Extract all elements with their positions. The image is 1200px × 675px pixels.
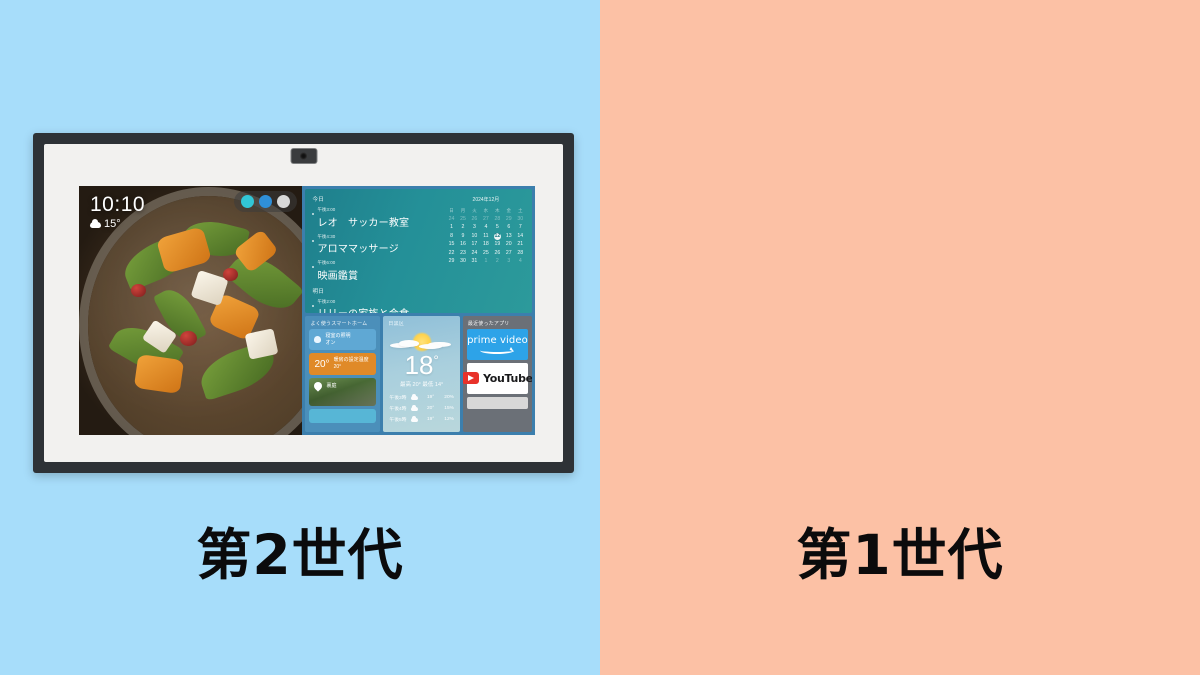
weather-hourly-list: 午後3時 19° 20% 午後4時 20° xyxy=(383,388,459,427)
panel-gen2: 10:10 15° xyxy=(0,0,600,675)
calendar-dow: 木 xyxy=(492,207,503,215)
clock-temp-value: 15° xyxy=(104,219,121,230)
status-icon-group[interactable] xyxy=(241,195,290,208)
widget-panel: 今日 午後3:00 レオ サッカー教室 午後4:30 アロママッサージ xyxy=(302,186,535,435)
calendar-day[interactable]: 29 xyxy=(446,258,457,266)
calendar-day[interactable]: 10 xyxy=(469,233,480,241)
weather-hour-precip: 20% xyxy=(438,395,454,400)
agenda-event-time: 午後4:30 xyxy=(317,234,432,240)
weather-high-low: 最高 20° 最低 14° xyxy=(383,380,459,388)
youtube-app[interactable]: YouTube xyxy=(467,363,528,394)
youtube-play-icon xyxy=(463,372,479,384)
calendar-day[interactable]: 27 xyxy=(480,216,491,224)
pin-icon xyxy=(313,380,324,391)
calendar-day[interactable]: 15 xyxy=(446,241,457,249)
agenda-tomorrow-label: 明日 xyxy=(312,287,432,295)
calendar-day[interactable]: 8 xyxy=(446,233,457,241)
agenda-event-title: アロママッサージ xyxy=(317,240,432,255)
calendar-widget[interactable]: 2024年12月 日月火水木金土242526272829301234567891… xyxy=(440,189,532,313)
calendar-dow: 火 xyxy=(469,207,480,215)
calendar-dow: 水 xyxy=(480,207,491,215)
calendar-day[interactable]: 24 xyxy=(446,216,457,224)
calendar-day[interactable]: 16 xyxy=(457,241,468,249)
weather-hour-time: 午後4時 xyxy=(389,405,406,412)
calendar-day[interactable]: 27 xyxy=(503,250,514,258)
comparison-stage: 10:10 15° xyxy=(0,0,1200,675)
smart-tile-label: 裏庭 xyxy=(326,383,336,390)
calendar-day[interactable]: 3 xyxy=(469,224,480,232)
calendar-day[interactable]: 30 xyxy=(457,258,468,266)
calendar-dow: 金 xyxy=(503,207,514,215)
weather-hour-time: 午後5時 xyxy=(389,416,406,423)
cloud-icon xyxy=(411,418,418,422)
weather-widget[interactable]: 日黒区 18° xyxy=(383,316,459,432)
agenda-event-time: 午後6:00 xyxy=(317,260,432,266)
calendar-day[interactable]: 19 xyxy=(492,241,503,249)
weather-hour-temp: 20° xyxy=(422,406,435,411)
agenda-event[interactable]: 午後4:30 アロママッサージ xyxy=(312,234,432,256)
calendar-day[interactable]: 14 xyxy=(515,233,526,241)
calendar-day[interactable]: 9 xyxy=(457,233,468,241)
calendar-day[interactable]: 4 xyxy=(515,258,526,266)
amazon-smile-icon xyxy=(480,347,514,354)
caption-gen1: 第1世代 xyxy=(600,528,1200,583)
blank-app[interactable] xyxy=(467,397,528,409)
calendar-day[interactable]: 24 xyxy=(469,250,480,258)
cloud-icon xyxy=(90,222,101,228)
smart-tile-extra[interactable] xyxy=(309,409,376,423)
thermostat-value: 20° xyxy=(314,359,329,370)
clock-overlay: 10:10 15° xyxy=(90,194,145,230)
calendar-dow: 日 xyxy=(446,207,457,215)
smart-tile-thermostat[interactable]: 20° 暖房の設定温度 20° xyxy=(309,353,376,375)
agenda-event-title: 映画鑑賞 xyxy=(317,267,432,282)
smart-home-title: よく使うスマートホーム xyxy=(305,316,380,329)
agenda-event-title: リリーの家族と会食 xyxy=(317,305,432,313)
device-screen: 10:10 15° xyxy=(79,186,535,435)
prime-video-app[interactable]: prime video xyxy=(467,329,528,360)
calendar-day[interactable]: 25 xyxy=(457,216,468,224)
weather-hour-temp: 19° xyxy=(422,395,435,400)
calendar-day[interactable]: 18 xyxy=(480,241,491,249)
agenda-today-label: 今日 xyxy=(312,195,432,203)
calendar-day[interactable]: 4 xyxy=(480,224,491,232)
caption-gen2: 第2世代 xyxy=(0,528,600,583)
calendar-day[interactable]: 1 xyxy=(446,224,457,232)
calendar-dow: 月 xyxy=(457,207,468,215)
weather-hour-row: 午後3時 19° 20% xyxy=(389,394,453,401)
agenda-event[interactable]: 午後2:00 リリーの家族と会食 xyxy=(312,299,432,313)
calendar-day[interactable]: 28 xyxy=(515,250,526,258)
weather-hour-row: 午後5時 19° 12% xyxy=(389,416,453,423)
weather-hour-precip: 12% xyxy=(438,417,454,422)
calendar-day[interactable]: 13 xyxy=(503,233,514,241)
calendar-day[interactable]: 23 xyxy=(457,250,468,258)
calendar-day[interactable]: 21 xyxy=(515,241,526,249)
widget-row: よく使うスマートホーム 寝室の照明 オン xyxy=(305,316,532,432)
cloud-icon xyxy=(411,407,418,411)
calendar-day[interactable]: 31 xyxy=(469,258,480,266)
prime-video-label: prime video xyxy=(467,335,528,346)
recent-apps-widget[interactable]: 最近使ったアプリ prime video YouTube xyxy=(463,316,532,432)
smart-tile-backyard-camera[interactable]: 裏庭 xyxy=(309,378,376,406)
agenda-event[interactable]: 午後3:00 レオ サッカー教室 xyxy=(312,207,432,229)
calendar-day[interactable]: 17 xyxy=(469,241,480,249)
recent-apps-title: 最近使ったアプリ xyxy=(463,316,532,329)
calendar-day[interactable]: 26 xyxy=(492,250,503,258)
calendar-month-label: 2024年12月 xyxy=(446,196,526,203)
device-echo-show-gen2: 10:10 15° xyxy=(33,133,574,473)
calendar-day[interactable]: 1 xyxy=(480,258,491,266)
calendar-grid[interactable]: 日月火水木金土242526272829301234567891011121314… xyxy=(446,207,526,266)
weather-hour-row: 午後4時 20° 15% xyxy=(389,405,453,412)
calendar-day[interactable]: 26 xyxy=(469,216,480,224)
calendar-day[interactable]: 29 xyxy=(503,216,514,224)
salad-bowl-photo: 10:10 15° xyxy=(79,186,302,435)
calendar-day[interactable]: 2 xyxy=(492,258,503,266)
calendar-day[interactable]: 2 xyxy=(457,224,468,232)
smart-tile-bedroom-light[interactable]: 寝室の照明 オン xyxy=(309,329,376,351)
calendar-day[interactable]: 3 xyxy=(503,258,514,266)
calendar-day[interactable]: 12 xyxy=(494,233,502,241)
weather-location: 日黒区 xyxy=(383,316,459,329)
smart-tile-label: 寝室の照明 xyxy=(325,333,350,339)
calendar-day[interactable]: 22 xyxy=(446,250,457,258)
calendar-day[interactable]: 6 xyxy=(503,224,514,232)
smart-tile-sub: オン xyxy=(325,340,335,346)
smart-home-widget[interactable]: よく使うスマートホーム 寝室の照明 オン xyxy=(305,316,380,432)
weather-hour-time: 午後3時 xyxy=(389,394,406,401)
camera-bar-icon xyxy=(290,148,317,164)
panel-gen1: 7:35 15° ⋯ xyxy=(600,0,1200,675)
smart-tile-label: 暖房の設定温度 xyxy=(334,357,369,363)
smart-home-tiles: 寝室の照明 オン 20° xyxy=(305,329,380,432)
calendar-day[interactable]: 20 xyxy=(503,241,514,249)
weather-hour-temp: 19° xyxy=(422,417,435,422)
calendar-day[interactable]: 28 xyxy=(492,216,503,224)
calendar-day[interactable]: 11 xyxy=(480,233,491,241)
agenda-widget[interactable]: 今日 午後3:00 レオ サッカー教室 午後4:30 アロママッサージ xyxy=(305,189,532,313)
agenda-event-time: 午後3:00 xyxy=(317,207,432,213)
agenda-event-time: 午後2:00 xyxy=(317,299,432,305)
device-bezel: 10:10 15° xyxy=(44,144,563,462)
clock-weather: 15° xyxy=(90,219,145,230)
clock-time: 10:10 xyxy=(90,194,145,215)
calendar-dow: 土 xyxy=(515,207,526,215)
agenda-event[interactable]: 午後6:00 映画鑑賞 xyxy=(312,260,432,282)
smart-tile-sub: 20° xyxy=(334,364,342,370)
youtube-label: YouTube xyxy=(483,372,532,385)
weather-hour-precip: 15% xyxy=(438,406,454,411)
calendar-day[interactable]: 5 xyxy=(492,224,503,232)
bowl-shape xyxy=(88,196,303,435)
calendar-day[interactable]: 30 xyxy=(515,216,526,224)
agenda-event-title: レオ サッカー教室 xyxy=(317,214,432,229)
recent-apps-tiles: prime video YouTube xyxy=(463,329,532,432)
agenda-event-list: 今日 午後3:00 レオ サッカー教室 午後4:30 アロママッサージ xyxy=(305,189,439,313)
calendar-day[interactable]: 7 xyxy=(515,224,526,232)
calendar-day[interactable]: 25 xyxy=(480,250,491,258)
sun-behind-cloud-icon xyxy=(383,330,459,360)
bulb-icon xyxy=(314,336,321,343)
sun-icon xyxy=(411,396,418,400)
